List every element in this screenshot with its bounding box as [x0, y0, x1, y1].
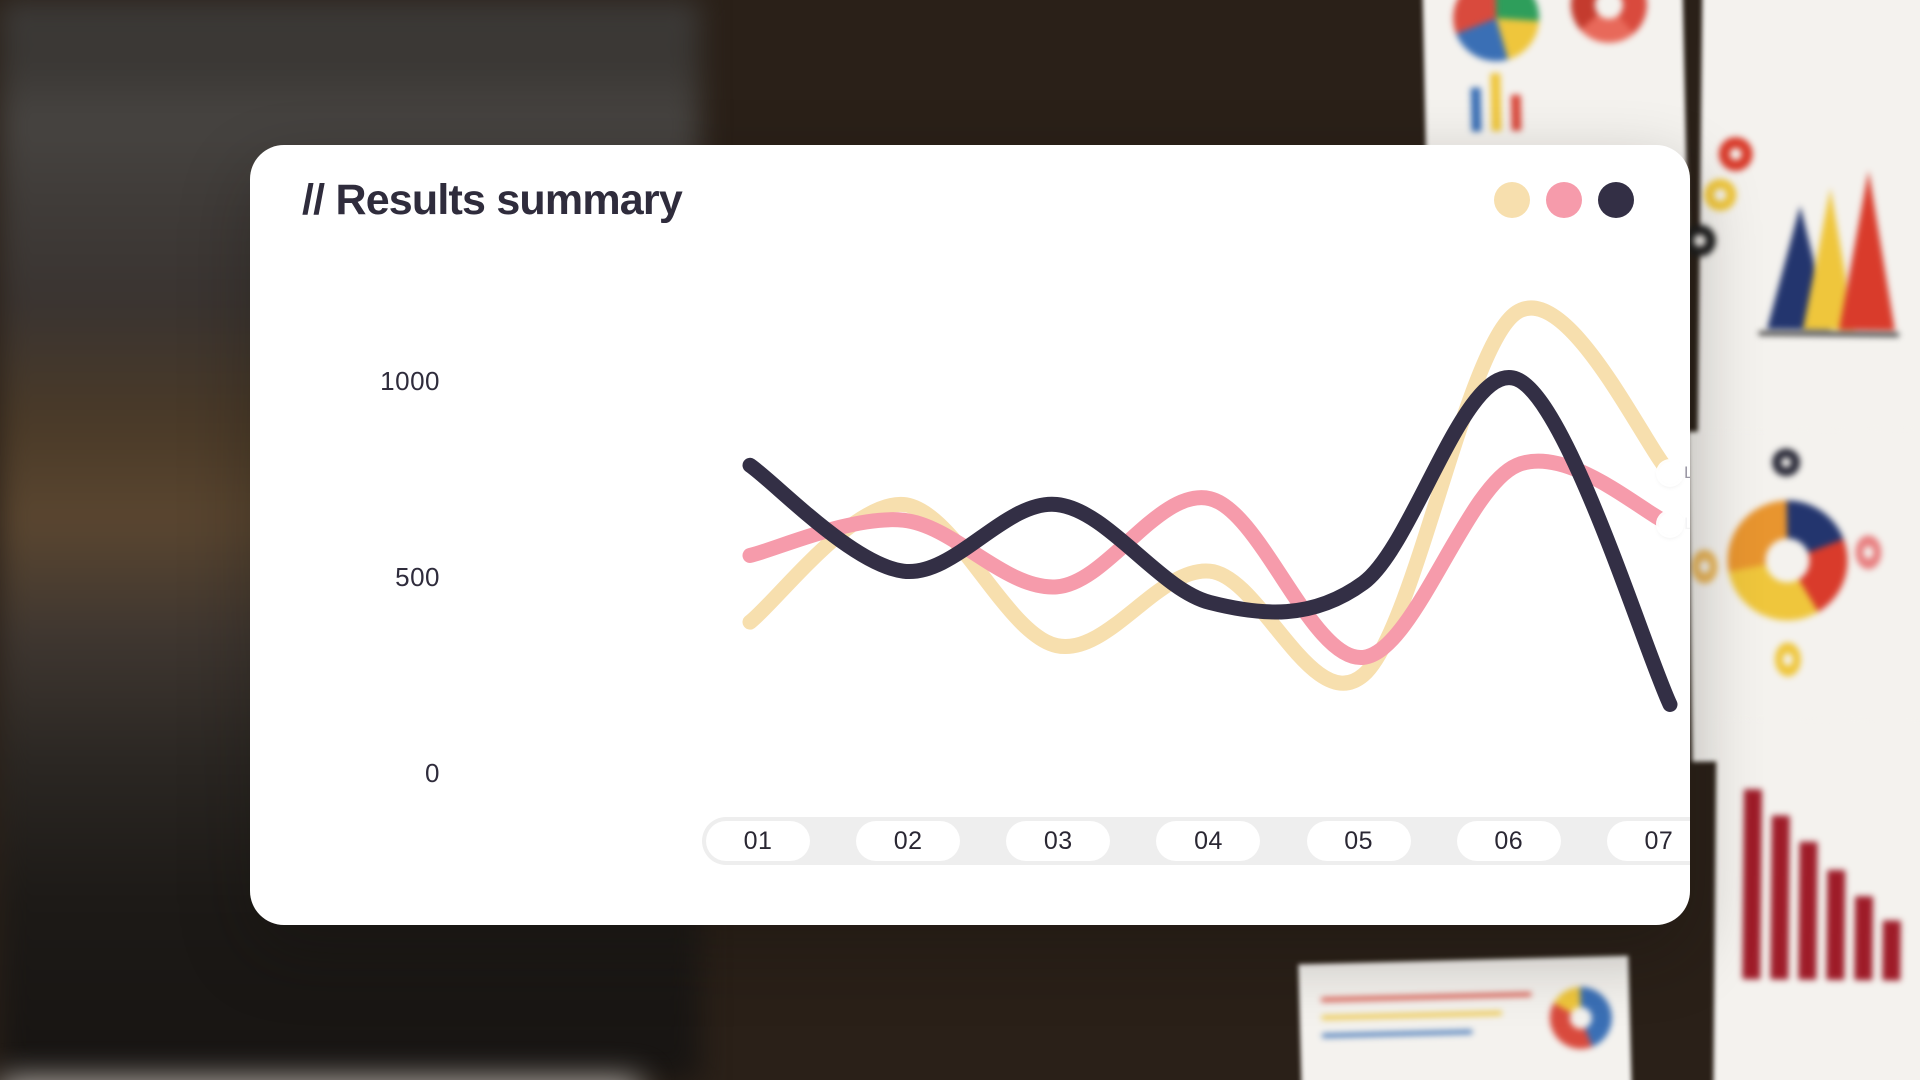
- background-poster: [1697, 0, 1920, 491]
- dot-pink[interactable]: [1546, 182, 1582, 218]
- x-axis-pill-06[interactable]: 06: [1457, 821, 1561, 861]
- x-axis-pill-04[interactable]: 04: [1156, 821, 1260, 861]
- x-axis-pill-07[interactable]: 07: [1607, 821, 1690, 861]
- x-axis-pill-bar: 01020304050607: [702, 817, 1690, 865]
- series-endpoint-line-01[interactable]: [1659, 462, 1681, 484]
- dot-cream[interactable]: [1494, 182, 1530, 218]
- legend-dots: [1494, 182, 1634, 218]
- x-axis-pill-05[interactable]: 05: [1307, 821, 1411, 861]
- dot-navy[interactable]: [1598, 182, 1634, 218]
- screenshot-root: // Results summary 1000 500 0 L: [0, 0, 1920, 1080]
- background-poster: [1688, 428, 1920, 762]
- series-label-line-01: Line 01: [1684, 463, 1690, 483]
- page-title: // Results summary: [302, 176, 682, 225]
- series-endpoint-line-02[interactable]: [1659, 513, 1681, 535]
- x-axis-pill-02[interactable]: 02: [856, 821, 960, 861]
- line-chart-plot: Line 01 Line 02: [250, 255, 1690, 815]
- background-poster: [1713, 719, 1920, 1080]
- series-label-line-02: Line 02: [1684, 514, 1690, 534]
- series-line-line-03: [750, 378, 1670, 705]
- x-axis-pill-03[interactable]: 03: [1006, 821, 1110, 861]
- card-header: // Results summary: [250, 145, 1690, 255]
- results-summary-card: // Results summary 1000 500 0 L: [250, 145, 1690, 925]
- background-poster: [1298, 956, 1631, 1080]
- chart-svg: [250, 255, 1690, 815]
- series-line-line-02: [750, 461, 1670, 657]
- x-axis-pill-01[interactable]: 01: [706, 821, 810, 861]
